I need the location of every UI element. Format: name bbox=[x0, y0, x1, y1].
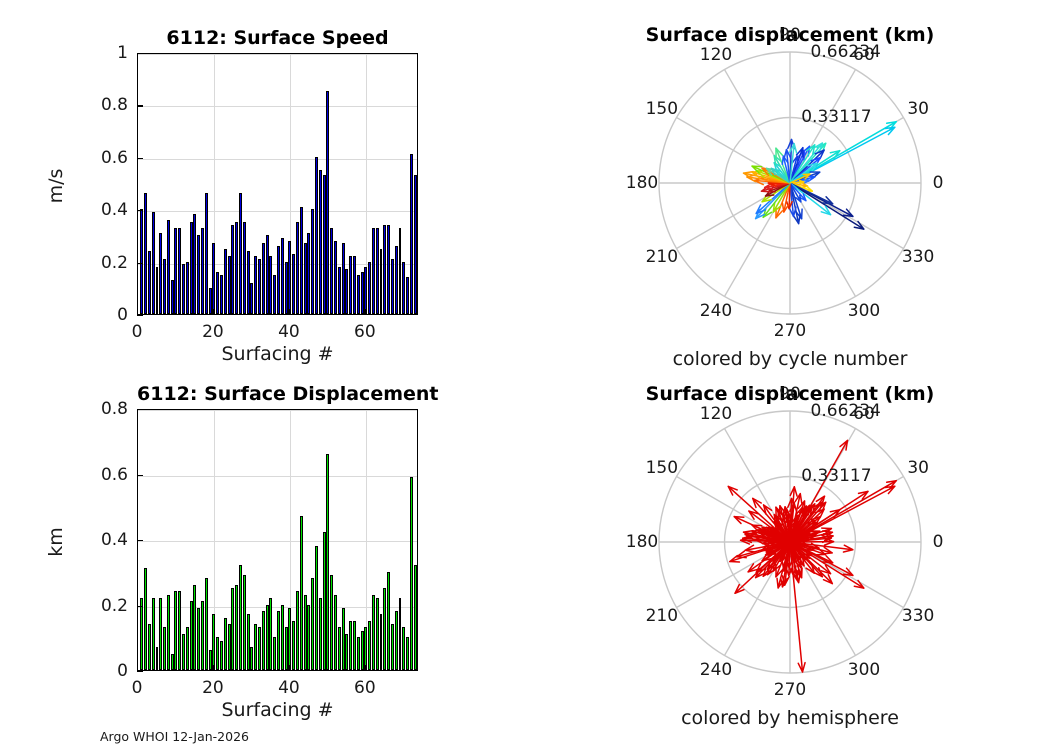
bar bbox=[353, 256, 356, 314]
y-axis-tick-mark bbox=[137, 105, 143, 106]
bar bbox=[262, 611, 265, 670]
y-axis-tick-mark bbox=[137, 671, 143, 672]
bar bbox=[288, 608, 291, 670]
bar bbox=[361, 631, 364, 670]
bar bbox=[319, 598, 322, 670]
bar bbox=[342, 243, 345, 314]
bar bbox=[250, 283, 253, 314]
y-axis-tick-label: 0.6 bbox=[101, 465, 128, 485]
bar bbox=[342, 608, 345, 670]
bar bbox=[247, 614, 250, 670]
bar bbox=[361, 272, 364, 314]
bar bbox=[300, 207, 303, 314]
bar bbox=[357, 275, 360, 314]
bar bbox=[152, 212, 155, 314]
bar bbox=[372, 595, 375, 670]
bar bbox=[402, 262, 405, 314]
bar bbox=[258, 627, 261, 670]
bar bbox=[406, 277, 409, 314]
x-axis-tick-label: 20 bbox=[202, 322, 224, 342]
bar bbox=[159, 233, 162, 314]
bar bbox=[364, 627, 367, 670]
y-axis-tick-label: 1 bbox=[117, 43, 128, 63]
x-axis-tick-label: 60 bbox=[354, 322, 376, 342]
bar bbox=[193, 214, 196, 314]
bar bbox=[380, 249, 383, 315]
bar bbox=[357, 637, 360, 670]
y-axis-tick-mark bbox=[137, 475, 143, 476]
bar bbox=[399, 598, 402, 670]
polar-angle-label: 210 bbox=[646, 247, 678, 267]
bar bbox=[307, 233, 310, 314]
bar bbox=[212, 614, 215, 670]
bar bbox=[383, 225, 386, 314]
bar bbox=[239, 565, 242, 670]
bar bbox=[171, 280, 174, 314]
bar bbox=[380, 614, 383, 670]
polar-angle-label: 330 bbox=[902, 247, 934, 267]
polar-grid-and-vectors bbox=[625, 407, 955, 677]
bar bbox=[250, 647, 253, 670]
panel-surface-displacement: 6112: Surface Displacement km Surfacing … bbox=[0, 375, 520, 750]
bar bbox=[353, 621, 356, 670]
polar-hemisphere-plot-area bbox=[625, 407, 955, 677]
bar bbox=[228, 624, 231, 670]
polar-angle-label: 0 bbox=[933, 173, 944, 193]
x-axis-tick-label: 0 bbox=[132, 678, 143, 698]
bar bbox=[174, 591, 177, 670]
x-axis-tick-mark bbox=[213, 309, 214, 315]
bar bbox=[140, 598, 143, 670]
y-axis-tick-mark bbox=[137, 409, 143, 410]
y-axis-tick-label: 0.2 bbox=[101, 596, 128, 616]
bar bbox=[224, 249, 227, 315]
bar-series bbox=[138, 54, 417, 314]
bar bbox=[266, 235, 269, 314]
bar bbox=[190, 222, 193, 314]
bar bbox=[209, 288, 212, 314]
y-axis-tick-mark bbox=[137, 263, 143, 264]
bar bbox=[163, 627, 166, 670]
polar-angle-label: 270 bbox=[774, 321, 806, 341]
bar bbox=[220, 641, 223, 670]
polar-angle-label: 0 bbox=[933, 532, 944, 552]
polar-angle-label: 90 bbox=[779, 25, 801, 45]
y-axis-tick-mark bbox=[137, 158, 143, 159]
bar bbox=[387, 225, 390, 314]
bar bbox=[258, 259, 261, 314]
y-axis-tick-label: 0.4 bbox=[101, 530, 128, 550]
bar bbox=[231, 588, 234, 670]
bar bbox=[182, 634, 185, 670]
polar-angle-label: 270 bbox=[774, 680, 806, 700]
bar bbox=[281, 605, 284, 671]
x-axis-tick-mark bbox=[213, 665, 214, 671]
bar bbox=[148, 251, 151, 314]
bar bbox=[395, 611, 398, 670]
bar bbox=[178, 228, 181, 314]
polar-angle-label: 300 bbox=[848, 660, 880, 680]
bar bbox=[414, 175, 417, 314]
y-axis-tick-label: 0 bbox=[117, 305, 128, 325]
x-axis-tick-mark bbox=[137, 665, 138, 671]
bar bbox=[254, 624, 257, 670]
bar bbox=[156, 267, 159, 314]
bar-series bbox=[138, 410, 417, 670]
bar bbox=[345, 634, 348, 670]
bar bbox=[406, 637, 409, 670]
bar bbox=[186, 262, 189, 314]
speed-chart-title: 6112: Surface Speed bbox=[137, 27, 418, 49]
bar bbox=[285, 262, 288, 314]
polar-angle-label: 30 bbox=[907, 458, 929, 478]
y-axis-tick-label: 0.6 bbox=[101, 148, 128, 168]
polar-radial-label: 0.33117 bbox=[801, 107, 871, 127]
x-axis-tick-mark bbox=[137, 309, 138, 315]
bar bbox=[368, 262, 371, 314]
polar-angle-label: 330 bbox=[902, 606, 934, 626]
y-axis-tick-label: 0.8 bbox=[101, 399, 128, 419]
bar bbox=[197, 235, 200, 314]
speed-x-axis-label: Surfacing # bbox=[137, 343, 418, 365]
y-axis-tick-mark bbox=[137, 53, 143, 54]
bar bbox=[391, 624, 394, 670]
bar bbox=[338, 627, 341, 670]
bar bbox=[402, 627, 405, 670]
bar bbox=[205, 193, 208, 314]
y-axis-tick-label: 0 bbox=[117, 661, 128, 681]
footer-credit: Argo WHOI 12-Jan-2026 bbox=[100, 729, 249, 744]
bar bbox=[144, 193, 147, 314]
polar-angle-label: 150 bbox=[646, 99, 678, 119]
bar bbox=[201, 228, 204, 314]
bar bbox=[235, 585, 238, 670]
polar-angle-label: 90 bbox=[779, 384, 801, 404]
polar-grid-and-vectors bbox=[625, 48, 955, 318]
y-axis-tick-mark bbox=[137, 540, 143, 541]
bar bbox=[288, 241, 291, 314]
polar-angle-label: 180 bbox=[626, 532, 658, 552]
polar-angle-label: 210 bbox=[646, 606, 678, 626]
bar bbox=[414, 565, 417, 670]
bar bbox=[304, 243, 307, 314]
bar bbox=[193, 585, 196, 670]
bar bbox=[197, 608, 200, 670]
y-axis-tick-mark bbox=[137, 606, 143, 607]
panel-polar-hemisphere: Surface displacement (km) colored by hem… bbox=[530, 375, 1050, 750]
bar bbox=[148, 624, 151, 670]
bar bbox=[372, 228, 375, 314]
bar bbox=[273, 637, 276, 670]
bar bbox=[159, 598, 162, 670]
bar bbox=[410, 477, 413, 670]
polar-angle-label: 120 bbox=[700, 404, 732, 424]
bar bbox=[334, 241, 337, 314]
bar bbox=[224, 618, 227, 670]
bar bbox=[391, 259, 394, 314]
bar bbox=[167, 595, 170, 670]
bar bbox=[383, 588, 386, 670]
bar bbox=[152, 598, 155, 670]
displacement-chart-title: 6112: Surface Displacement bbox=[137, 383, 418, 405]
x-axis-tick-label: 40 bbox=[278, 322, 300, 342]
bar bbox=[140, 209, 143, 314]
bar bbox=[231, 225, 234, 314]
bar bbox=[247, 251, 250, 314]
bar bbox=[334, 595, 337, 670]
bar bbox=[345, 269, 348, 314]
bar bbox=[387, 572, 390, 670]
bar bbox=[292, 254, 295, 314]
bar bbox=[243, 575, 246, 670]
polar-hemisphere-caption: colored by hemisphere bbox=[570, 707, 1010, 729]
bar bbox=[304, 595, 307, 670]
bar bbox=[311, 578, 314, 670]
displacement-plot-area bbox=[137, 409, 418, 671]
x-axis-tick-mark bbox=[365, 309, 366, 315]
bar bbox=[326, 91, 329, 314]
polar-angle-label: 180 bbox=[626, 173, 658, 193]
bar bbox=[171, 654, 174, 670]
bar bbox=[273, 275, 276, 314]
bar bbox=[156, 647, 159, 670]
y-axis-tick-label: 0.4 bbox=[101, 200, 128, 220]
bar bbox=[174, 228, 177, 314]
bar bbox=[266, 605, 269, 671]
bar bbox=[163, 259, 166, 314]
speed-plot-area bbox=[137, 53, 418, 315]
bar bbox=[376, 598, 379, 670]
x-axis-tick-label: 0 bbox=[132, 322, 143, 342]
bar bbox=[364, 267, 367, 314]
bar bbox=[212, 243, 215, 314]
bar bbox=[349, 621, 352, 670]
bar bbox=[281, 238, 284, 314]
bar bbox=[376, 228, 379, 314]
bar bbox=[186, 627, 189, 670]
bar bbox=[277, 611, 280, 670]
x-axis-tick-label: 60 bbox=[354, 678, 376, 698]
bar bbox=[330, 575, 333, 670]
y-axis-tick-mark bbox=[137, 315, 143, 316]
bar bbox=[330, 228, 333, 314]
polar-angle-label: 240 bbox=[700, 301, 732, 321]
y-axis-tick-label: 0.2 bbox=[101, 253, 128, 273]
bar bbox=[178, 591, 181, 670]
polar-cycle-plot-area bbox=[625, 48, 955, 318]
y-axis-tick-label: 0.8 bbox=[101, 95, 128, 115]
polar-angle-label: 120 bbox=[700, 45, 732, 65]
bar bbox=[254, 256, 257, 314]
polar-radial-label: 0.66234 bbox=[811, 401, 881, 421]
bar bbox=[239, 193, 242, 314]
polar-radial-label: 0.33117 bbox=[801, 466, 871, 486]
bar bbox=[205, 578, 208, 670]
bar bbox=[315, 157, 318, 314]
bar bbox=[228, 256, 231, 314]
polar-angle-label: 30 bbox=[907, 99, 929, 119]
bar bbox=[285, 627, 288, 670]
bar bbox=[167, 220, 170, 314]
x-axis-tick-mark bbox=[365, 665, 366, 671]
panel-surface-speed: 6112: Surface Speed m/s Surfacing # 00.2… bbox=[0, 0, 520, 375]
bar bbox=[144, 568, 147, 670]
x-axis-tick-label: 20 bbox=[202, 678, 224, 698]
bar bbox=[243, 222, 246, 314]
polar-angle-label: 240 bbox=[700, 660, 732, 680]
bar bbox=[182, 264, 185, 314]
bar bbox=[220, 275, 223, 314]
panel-polar-cycle: Surface displacement (km) colored by cyc… bbox=[530, 0, 1050, 375]
speed-y-axis-label: m/s bbox=[45, 166, 67, 206]
bar bbox=[292, 621, 295, 670]
bar bbox=[277, 246, 280, 314]
bar bbox=[235, 222, 238, 314]
displacement-y-axis-label: km bbox=[45, 522, 67, 562]
bar bbox=[216, 272, 219, 314]
y-axis-tick-mark bbox=[137, 210, 143, 211]
bar bbox=[319, 170, 322, 314]
bar bbox=[307, 605, 310, 671]
bar bbox=[410, 154, 413, 314]
bar bbox=[338, 267, 341, 314]
bar bbox=[296, 591, 299, 670]
bar bbox=[326, 454, 329, 670]
bar bbox=[399, 228, 402, 314]
bar bbox=[395, 246, 398, 314]
x-axis-tick-mark bbox=[289, 665, 290, 671]
polar-cycle-caption: colored by cycle number bbox=[570, 348, 1010, 370]
displacement-x-axis-label: Surfacing # bbox=[137, 699, 418, 721]
bar bbox=[262, 243, 265, 314]
bar bbox=[368, 621, 371, 670]
bar bbox=[323, 532, 326, 670]
bar bbox=[296, 222, 299, 314]
polar-vector bbox=[790, 183, 864, 229]
polar-radial-label: 0.66234 bbox=[811, 42, 881, 62]
bar bbox=[190, 601, 193, 670]
bar bbox=[216, 637, 219, 670]
bar bbox=[349, 256, 352, 314]
bar bbox=[201, 601, 204, 670]
bar bbox=[209, 650, 212, 670]
bar bbox=[300, 516, 303, 670]
x-axis-tick-mark bbox=[289, 309, 290, 315]
bar bbox=[323, 175, 326, 314]
polar-angle-label: 300 bbox=[848, 301, 880, 321]
bar bbox=[315, 546, 318, 670]
bar bbox=[311, 209, 314, 314]
bar bbox=[269, 598, 272, 670]
x-axis-tick-label: 40 bbox=[278, 678, 300, 698]
bar bbox=[269, 256, 272, 314]
polar-angle-label: 150 bbox=[646, 458, 678, 478]
